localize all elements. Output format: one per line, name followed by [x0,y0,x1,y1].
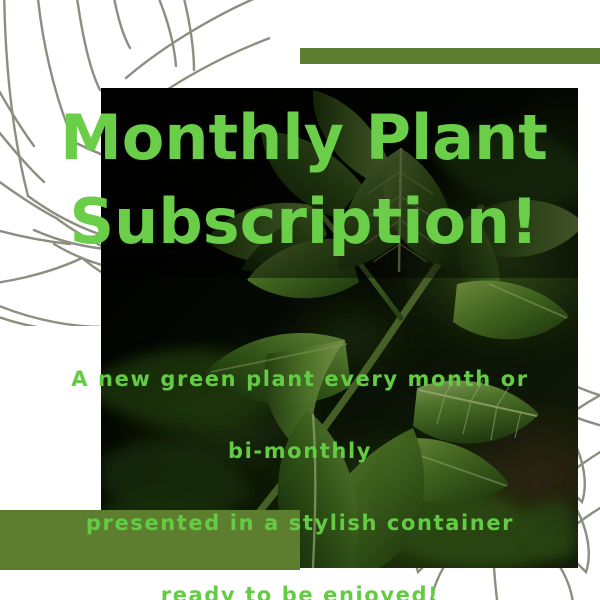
description-line-1: A new green plant every month or [0,361,600,397]
description-line-3: presented in a stylish container [0,505,600,541]
description-line-4: ready to be enjoyed! [0,577,600,600]
description-line-2: bi-monthly [0,433,600,469]
top-accent-bar [300,48,600,64]
poster-canvas: Monthly Plant Subscription! A new green … [0,0,600,600]
description-text: A new green plant every month or bi-mont… [0,325,600,600]
page-title: Monthly Plant Subscription! [0,96,600,264]
